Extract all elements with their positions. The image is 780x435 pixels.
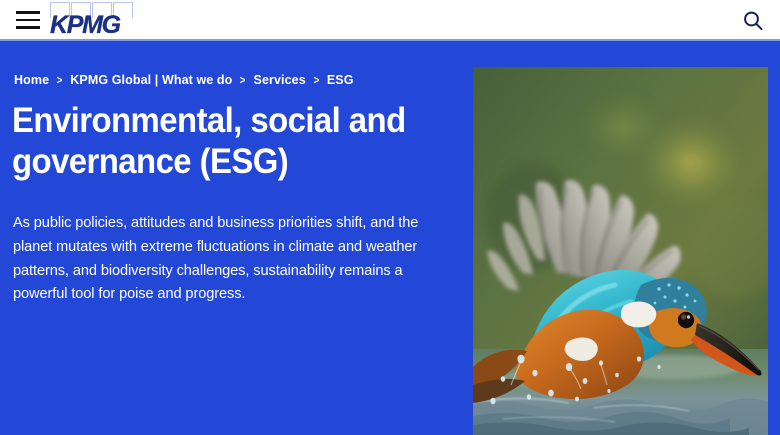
breadcrumb-chevron-icon-3: > xyxy=(313,73,319,87)
site-header: KPMG xyxy=(0,0,780,41)
page-title: Environmental, social and governance (ES… xyxy=(12,100,426,182)
breadcrumb-chevron-icon-2: > xyxy=(240,73,246,87)
kpmg-logo-text: KPMG xyxy=(50,13,120,38)
breadcrumb-item-services[interactable]: Services xyxy=(254,73,306,87)
breadcrumb-chevron-icon-1: > xyxy=(57,73,63,87)
hamburger-menu-icon[interactable] xyxy=(16,11,40,29)
hero-image xyxy=(473,67,768,435)
hamburger-bar-3 xyxy=(16,26,40,29)
breadcrumb-item-esg[interactable]: ESG xyxy=(327,73,354,87)
hamburger-bar-1 xyxy=(16,11,40,14)
hero-section: Home > KPMG Global | What we do > Servic… xyxy=(0,41,780,435)
kpmg-logo[interactable]: KPMG xyxy=(50,2,136,38)
page-description: As public policies, attitudes and busine… xyxy=(13,212,456,307)
breadcrumb-item-home[interactable]: Home xyxy=(14,73,49,87)
breadcrumb: Home > KPMG Global | What we do > Servic… xyxy=(14,73,354,87)
kpmg-esg-page: KPMG Home > KPMG Global | What we do > S… xyxy=(0,0,780,435)
breadcrumb-item-kpmg-global[interactable]: KPMG Global | What we do xyxy=(70,73,232,87)
search-icon[interactable] xyxy=(740,8,766,34)
hamburger-bar-2 xyxy=(16,19,40,22)
